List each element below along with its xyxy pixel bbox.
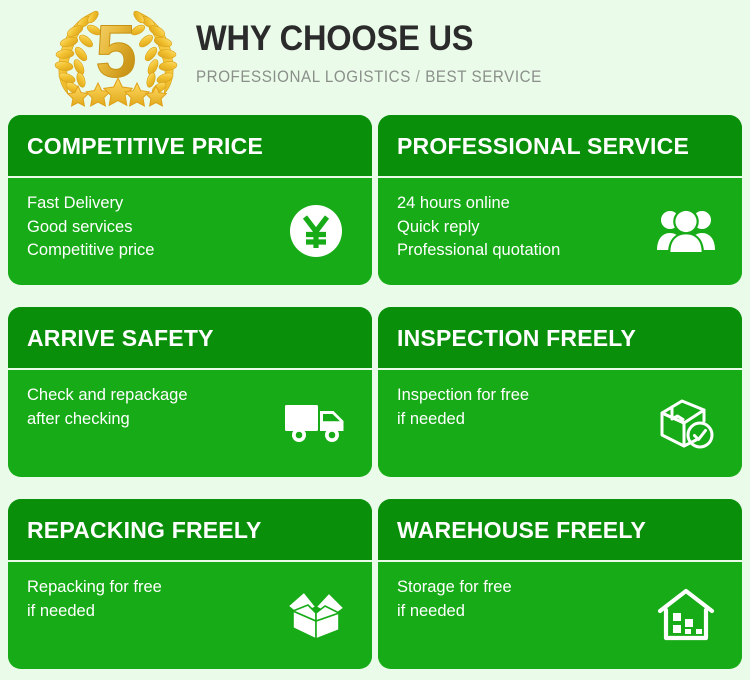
card-title: COMPETITIVE PRICE bbox=[27, 133, 263, 159]
card-header: COMPETITIVE PRICE bbox=[8, 115, 372, 178]
header: 5 WHY CHOOSE US PROFESSIONAL LOGISTICS /… bbox=[0, 0, 750, 112]
delivery-truck-icon bbox=[284, 394, 348, 452]
page-subtitle: PROFESSIONAL LOGISTICS / BEST SERVICE bbox=[196, 67, 674, 87]
warehouse-house-icon bbox=[654, 586, 718, 644]
svg-text:5: 5 bbox=[95, 10, 136, 93]
card-header: WAREHOUSE FREELY bbox=[378, 499, 742, 562]
feature-card-competitive-price[interactable]: COMPETITIVE PRICE Fast Delivery Good ser… bbox=[8, 115, 372, 285]
card-title: WAREHOUSE FREELY bbox=[397, 517, 646, 543]
feature-card-inspection-freely[interactable]: INSPECTION FREELY Inspection for free if… bbox=[378, 307, 742, 477]
card-body: Inspection for free if needed bbox=[378, 370, 742, 475]
header-text-block: WHY CHOOSE US PROFESSIONAL LOGISTICS / B… bbox=[196, 18, 716, 87]
feature-card-grid: COMPETITIVE PRICE Fast Delivery Good ser… bbox=[8, 115, 742, 669]
card-title: PROFESSIONAL SERVICE bbox=[397, 133, 689, 159]
feature-card-arrive-safety[interactable]: ARRIVE SAFETY Check and repackage after … bbox=[8, 307, 372, 477]
card-header: INSPECTION FREELY bbox=[378, 307, 742, 370]
card-body: Storage for free if needed bbox=[378, 562, 742, 667]
yen-coin-icon bbox=[284, 202, 348, 260]
subtitle-separator: / bbox=[416, 68, 421, 86]
card-body: 24 hours online Quick reply Professional… bbox=[378, 178, 742, 283]
card-title: REPACKING FREELY bbox=[27, 517, 262, 543]
card-body: Repacking for free if needed bbox=[8, 562, 372, 667]
feature-card-warehouse-freely[interactable]: WAREHOUSE FREELY Storage for free if nee… bbox=[378, 499, 742, 669]
box-check-icon bbox=[654, 394, 718, 452]
card-header: PROFESSIONAL SERVICE bbox=[378, 115, 742, 178]
subtitle-part-2: BEST SERVICE bbox=[425, 68, 542, 86]
why-choose-us-banner: 5 WHY CHOOSE US PROFESSIONAL LOGISTICS /… bbox=[0, 0, 750, 680]
card-header: REPACKING FREELY bbox=[8, 499, 372, 562]
card-title: ARRIVE SAFETY bbox=[27, 325, 214, 351]
card-body: Check and repackage after checking bbox=[8, 370, 372, 475]
card-header: ARRIVE SAFETY bbox=[8, 307, 372, 370]
users-group-icon bbox=[654, 202, 718, 260]
page-title: WHY CHOOSE US bbox=[196, 18, 680, 60]
card-body: Fast Delivery Good services Competitive … bbox=[8, 178, 372, 283]
feature-card-professional-service[interactable]: PROFESSIONAL SERVICE 24 hours online Qui… bbox=[378, 115, 742, 285]
subtitle-part-1: PROFESSIONAL LOGISTICS bbox=[196, 68, 411, 86]
feature-card-repacking-freely[interactable]: REPACKING FREELY Repacking for free if n… bbox=[8, 499, 372, 669]
card-title: INSPECTION FREELY bbox=[397, 325, 636, 351]
open-box-icon bbox=[284, 586, 348, 644]
laurel-wreath-five-stars-badge-icon: 5 bbox=[36, 4, 196, 108]
